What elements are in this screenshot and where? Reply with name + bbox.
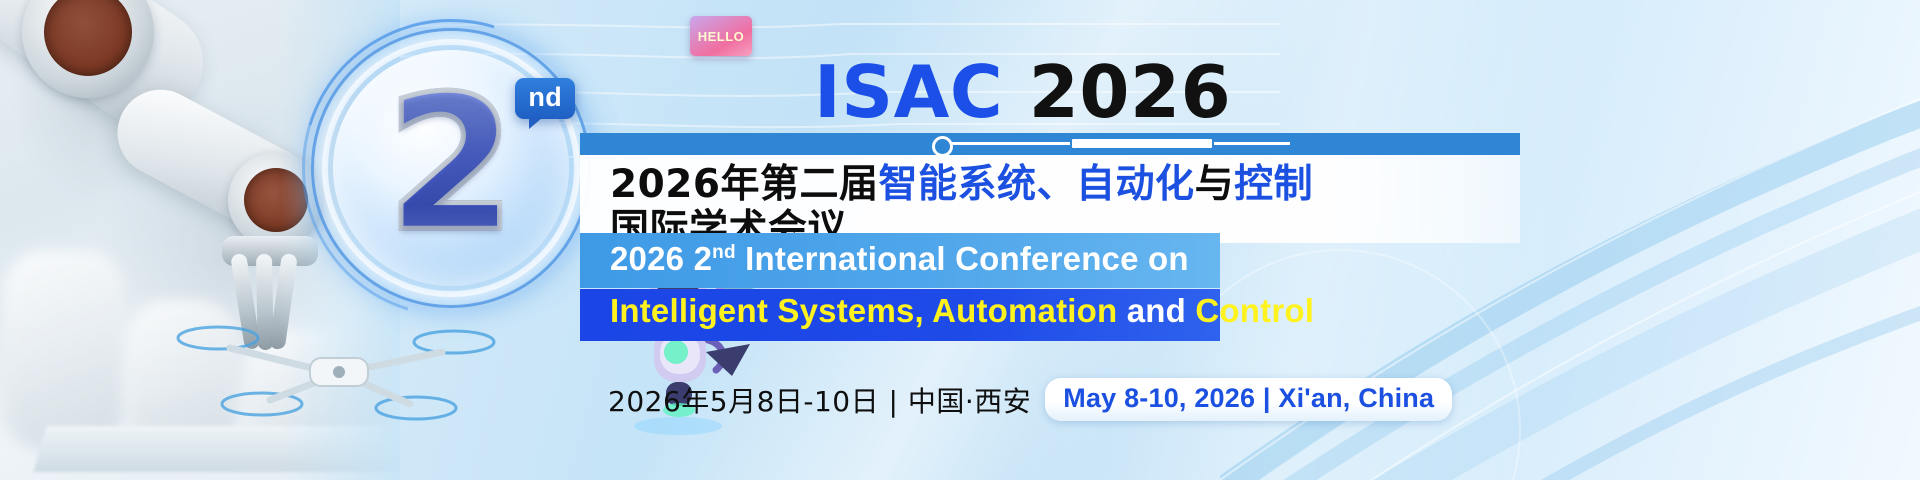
chinese-title-line-1: 2026年第二届智能系统、自动化与控制 xyxy=(610,165,1313,204)
english-topic-b: Control xyxy=(1195,292,1314,329)
english-subtitle-prefix: 2026 2 xyxy=(610,240,712,277)
chinese-title-conjunction: 与 xyxy=(1195,162,1235,207)
event-date-english-badge: May 8-10, 2026 | Xi'an, China xyxy=(1045,378,1452,421)
english-subtitle-ordinal: nd xyxy=(712,242,736,263)
title-year: 2026 xyxy=(1029,50,1231,134)
english-subtitle-line-2: Intelligent Systems, Automation and Cont… xyxy=(610,294,1314,327)
english-subtitle-line-1: 2026 2nd International Conference on xyxy=(610,242,1189,275)
emblem-numeral-2: 2 xyxy=(386,71,515,257)
chinese-title-topic-b: 控制 xyxy=(1234,162,1313,207)
title-acronym: ISAC xyxy=(814,50,1003,134)
workbench-surface xyxy=(33,426,400,472)
page-title: ISAC 2026 xyxy=(814,56,1231,128)
background-blur-arm xyxy=(4,250,124,450)
robot-gripper xyxy=(222,236,318,354)
english-conjunction: and xyxy=(1117,292,1195,329)
chinese-title-prefix: 2026年第二届 xyxy=(610,162,879,207)
rule-segment-thick xyxy=(1072,139,1212,148)
chinese-title-block: 2026年第二届智能系统、自动化与控制 国际学术会议 xyxy=(580,155,1520,243)
event-date-chinese: 2026年5月8日-10日 | 中国·西安 xyxy=(608,380,1031,420)
conference-banner: 2 nd HELLO ISAC 2026 2026年第二届智能系统、 xyxy=(0,0,1920,480)
rule-segment-thin xyxy=(952,142,1070,145)
robot-arm-forearm-segment xyxy=(102,75,332,252)
english-subtitle-block-1: 2026 2nd International Conference on xyxy=(580,233,1220,288)
rule-node-circle xyxy=(932,136,953,157)
gripper-finger xyxy=(269,253,298,350)
mascot-hello-card: HELLO xyxy=(690,16,752,56)
emblem-ordinal-badge: nd xyxy=(515,78,575,119)
rule-segment-thin xyxy=(1214,142,1290,145)
anniversary-emblem: 2 nd xyxy=(311,28,591,308)
decorative-rule-bar xyxy=(580,133,1520,155)
english-subtitle-rest: International Conference on xyxy=(736,240,1189,277)
chinese-title-topic-a: 智能系统、自动化 xyxy=(879,162,1195,207)
english-topic-a: Intelligent Systems, Automation xyxy=(610,292,1117,329)
english-subtitle-block-2: Intelligent Systems, Automation and Cont… xyxy=(580,289,1220,341)
event-date-row: 2026年5月8日-10日 | 中国·西安 May 8-10, 2026 | X… xyxy=(608,378,1452,421)
